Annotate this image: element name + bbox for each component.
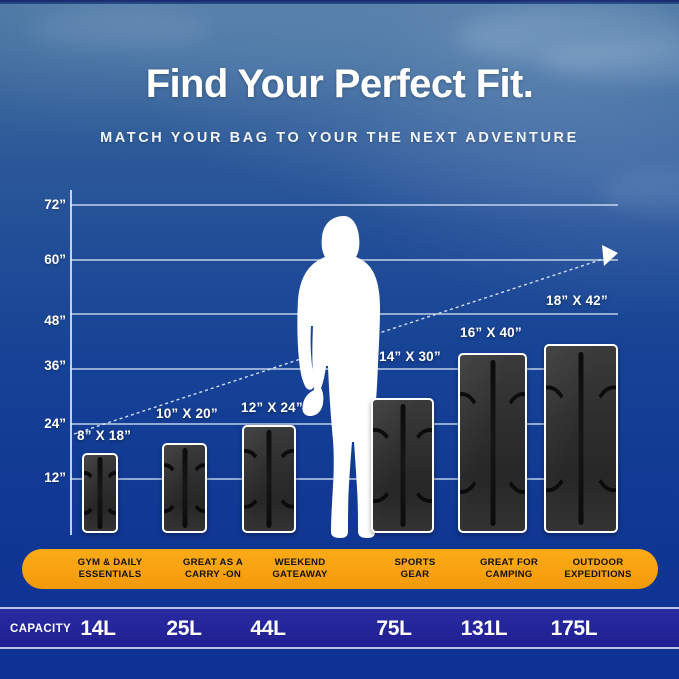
capacity-value-4: 75L [358,617,430,641]
capacity-value-5: 131L [444,617,524,641]
bag-4[interactable] [371,398,434,533]
bag-6[interactable] [544,344,618,533]
capacity-value-2: 25L [148,617,220,641]
bag-6-dimension-label: 18” X 42” [546,293,608,308]
bag-1-dimension-label: 8” X 18” [77,428,131,443]
y-axis-tick-label: 48” [20,313,66,328]
y-axis-tick-label: 72” [20,197,66,212]
bag-2[interactable] [162,443,207,533]
y-axis-tick-label: 36” [20,358,66,373]
infographic-root: Find Your Perfect Fit. MATCH YOUR BAG TO… [0,0,679,679]
bag-stripe [98,457,103,528]
category-item-3[interactable]: WEEKENDGATEAWAY [238,557,362,580]
bag-4-dimension-label: 14” X 30” [379,349,441,364]
bag-stripe [490,360,495,525]
bag-3[interactable] [242,425,296,533]
y-axis-tick-label: 60” [20,252,66,267]
capacity-value-3: 44L [232,617,304,641]
category-item-4[interactable]: SPORTSGEAR [365,557,465,580]
bag-stripe [267,430,272,528]
category-item-1[interactable]: GYM & DAILYESSENTIALS [48,557,172,580]
y-axis-tick-label: 24” [20,416,66,431]
bag-stripe [579,352,584,526]
bag-5[interactable] [458,353,527,533]
y-axis-tick-label: 12” [20,470,66,485]
bag-stripe [182,448,187,529]
bag-stripe [400,404,405,527]
category-item-6[interactable]: OUTDOOREXPEDITIONS [540,557,656,580]
bag-5-dimension-label: 16” X 40” [460,325,522,340]
gridline-72 [70,204,618,206]
capacity-band: CAPACITY 14L 25L 44L 75L 131L 175L [0,607,679,649]
category-band: GYM & DAILYESSENTIALS GREAT AS ACARRY -O… [22,549,658,589]
y-axis-line [70,190,72,535]
bag-3-dimension-label: 12” X 24” [241,400,303,415]
bag-2-dimension-label: 10” X 20” [156,406,218,421]
capacity-value-1: 14L [62,617,134,641]
capacity-value-6: 175L [534,617,614,641]
bag-1[interactable] [82,453,118,533]
